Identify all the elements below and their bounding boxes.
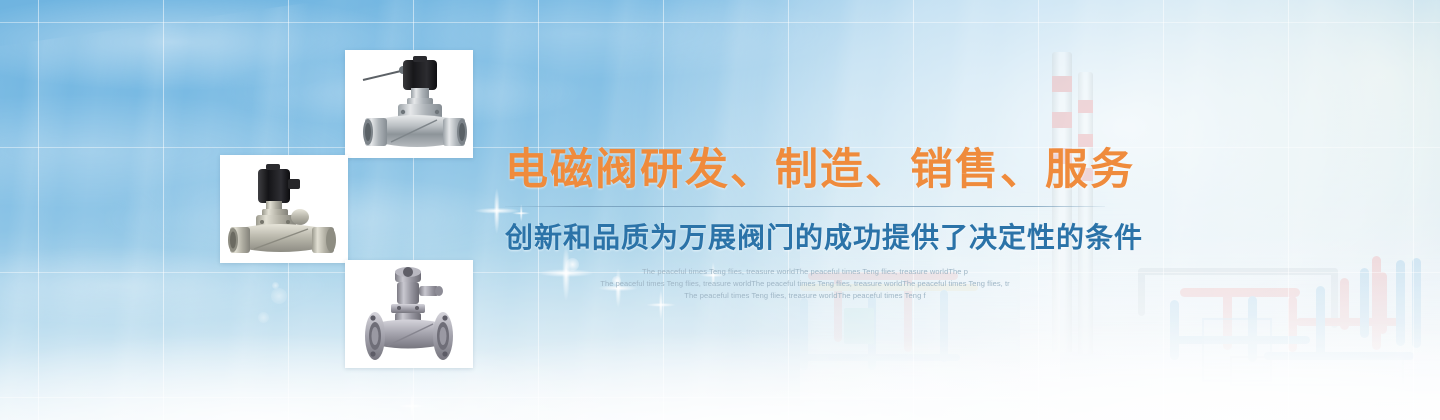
solenoid-valve-flanged-icon [351,266,467,362]
product-tile-solenoid-valve-threaded-top[interactable] [345,50,473,158]
product-tile-solenoid-valve-threaded-middle[interactable] [220,155,348,263]
solenoid-valve-brass-icon [228,161,340,257]
blurb-line-3: The peaceful times Teng flies, treasure … [505,290,1105,302]
blurb-line-2: The peaceful times Teng flies, treasure … [505,278,1105,290]
product-image-threaded-valve-top [345,50,473,158]
hero-subheadline: 创新和品质为万展阀门的成功提供了决定性的条件 [505,216,1105,256]
blurb-line-1: The peaceful times Teng flies, treasure … [505,266,1105,278]
product-tile-solenoid-valve-flanged-bottom[interactable] [345,260,473,368]
product-image-threaded-valve-middle [220,155,348,263]
hero-banner: 电磁阀研发、制造、销售、服务 创新和品质为万展阀门的成功提供了决定性的条件 Th… [0,0,1440,420]
hero-copy: 电磁阀研发、制造、销售、服务 创新和品质为万展阀门的成功提供了决定性的条件 Th… [505,148,1105,302]
hero-headline: 电磁阀研发、制造、销售、服务 [505,148,1105,194]
hero-blurb: The peaceful times Teng flies, treasure … [505,266,1105,302]
product-image-flanged-valve [345,260,473,368]
solenoid-valve-threaded-icon [351,56,467,152]
divider-rule [505,206,1105,207]
